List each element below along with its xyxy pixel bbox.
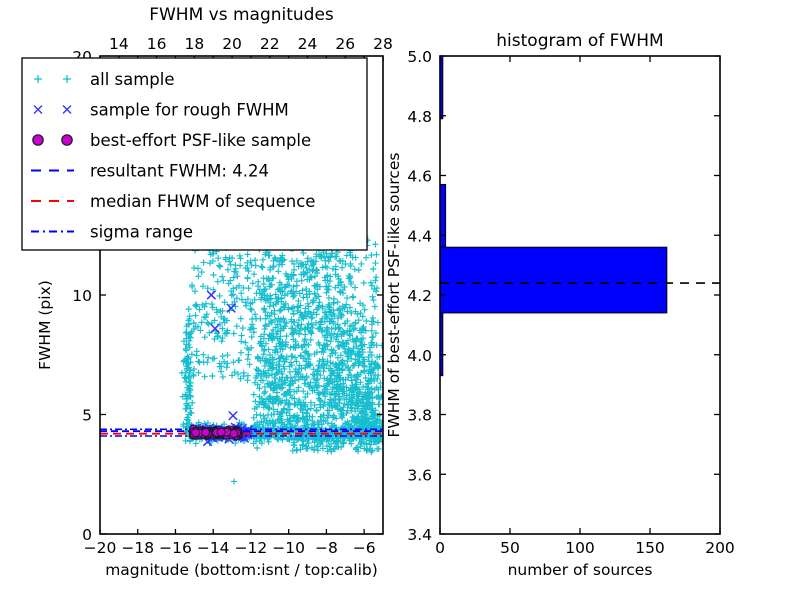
plus-marker (314, 408, 320, 414)
plus-marker (209, 373, 215, 379)
plus-marker (308, 405, 314, 411)
right-ytick-label: 5.0 (407, 48, 432, 66)
histogram-bar (440, 247, 667, 313)
plot-canvas: −20−18−16−14−12−10−8−6141618202224262805… (0, 0, 800, 600)
plus-marker (278, 295, 284, 301)
plus-marker (252, 257, 258, 263)
plus-marker (204, 320, 210, 326)
plus-marker (249, 307, 255, 313)
plus-marker (224, 352, 230, 358)
plus-marker (202, 374, 208, 380)
plus-marker (196, 359, 202, 365)
plus-marker (335, 299, 341, 305)
plus-marker (238, 332, 244, 338)
plus-marker (290, 448, 296, 454)
plus-marker (251, 271, 257, 277)
right-panel: 0501001502003.43.63.84.04.24.44.64.85.0h… (385, 31, 735, 579)
plus-marker (217, 293, 223, 299)
plus-marker (245, 352, 251, 358)
plus-marker (311, 283, 317, 289)
plus-marker (339, 265, 345, 271)
plus-marker (215, 279, 221, 285)
plus-marker (254, 445, 260, 451)
plus-marker (220, 353, 226, 359)
right-xtick-label: 200 (705, 539, 735, 557)
plus-marker (261, 305, 267, 311)
plus-marker (260, 257, 266, 263)
plus-marker (302, 331, 308, 337)
plus-marker (314, 267, 320, 273)
plus-marker (358, 440, 364, 446)
plus-marker (205, 355, 211, 361)
plus-marker (219, 274, 225, 280)
plus-marker (266, 405, 272, 411)
left-ytick-label: 10 (72, 287, 92, 305)
right-ytick-label: 3.8 (407, 407, 432, 425)
left-xtick-top-label: 16 (147, 35, 167, 53)
plus-marker (336, 326, 342, 332)
left-xtick-bottom-label: −16 (159, 539, 192, 557)
plus-marker (375, 320, 381, 326)
left-xtick-bottom-label: −10 (272, 539, 305, 557)
plus-marker (195, 358, 201, 364)
plus-marker (193, 352, 199, 358)
plus-marker (250, 280, 256, 286)
left-xtick-top-label: 20 (222, 35, 242, 53)
right-ytick-label: 3.4 (407, 526, 432, 544)
right-ytick-label: 4.2 (407, 287, 432, 305)
plus-marker (231, 330, 237, 336)
plus-marker (245, 251, 251, 257)
plus-marker (253, 316, 259, 322)
legend-item-label: sample for rough FWHM (90, 101, 289, 120)
left-xtick-bottom-label: −14 (197, 539, 230, 557)
plus-marker (242, 340, 248, 346)
plus-marker (204, 359, 210, 365)
plus-marker (186, 306, 192, 312)
plus-marker (238, 290, 244, 296)
plus-marker (226, 280, 232, 286)
plus-marker (229, 292, 235, 298)
plus-marker (299, 287, 305, 293)
left-ytick-label: 5 (82, 407, 92, 425)
plus-marker (255, 279, 261, 285)
plus-marker (352, 284, 358, 290)
left-xtick-top-label: 26 (335, 35, 355, 53)
histogram-bar (440, 184, 446, 247)
left-xtick-bottom-label: −12 (235, 539, 268, 557)
left-panel-xlabel: magnitude (bottom:isnt / top:calib) (105, 561, 378, 579)
plus-marker (200, 352, 206, 358)
plus-marker (372, 303, 378, 309)
plus-marker (210, 356, 216, 362)
plus-marker (219, 338, 225, 344)
plus-marker (191, 265, 197, 271)
cross-marker (229, 411, 237, 419)
left-xtick-top-label: 28 (373, 35, 393, 53)
plus-marker (231, 274, 237, 280)
plus-marker (300, 250, 306, 256)
plus-marker (356, 267, 362, 273)
plus-marker (238, 338, 244, 344)
left-xtick-bottom-label: −18 (121, 539, 154, 557)
left-xtick-top-label: 18 (184, 35, 204, 53)
right-xtick-label: 50 (500, 539, 520, 557)
plus-marker (200, 259, 206, 265)
plus-marker (283, 333, 289, 339)
plus-marker (245, 268, 251, 274)
plus-marker (220, 374, 226, 380)
circle-marker (62, 135, 72, 145)
psf-marker (230, 430, 238, 438)
plus-marker (251, 392, 257, 398)
plus-marker (370, 315, 376, 321)
plus-marker (251, 415, 257, 421)
plus-marker (231, 478, 237, 484)
plus-marker (265, 412, 271, 418)
plus-marker (206, 321, 212, 327)
plus-marker (350, 294, 356, 300)
plus-marker (187, 313, 193, 319)
plus-marker (372, 260, 378, 266)
plus-marker (293, 358, 299, 364)
psf-marker (192, 429, 200, 437)
plus-marker (294, 283, 300, 289)
plus-marker (192, 312, 198, 318)
plus-marker (215, 255, 221, 261)
plus-marker (183, 438, 189, 444)
right-ytick-label: 4.0 (407, 347, 432, 365)
plus-marker (320, 362, 326, 368)
psf-sample-scatter (189, 425, 242, 439)
plus-marker (257, 412, 263, 418)
plus-marker (253, 290, 259, 296)
plus-marker (344, 252, 350, 258)
right-ytick-label: 4.4 (407, 227, 432, 245)
plus-marker (376, 446, 382, 452)
legend-box (22, 58, 367, 250)
all-sample-scatter (179, 228, 386, 484)
right-xtick-label: 0 (435, 539, 445, 557)
plus-marker (244, 275, 250, 281)
right-panel-xlabel: number of sources (508, 561, 653, 579)
plus-marker (259, 264, 265, 270)
plus-marker (361, 280, 367, 286)
plus-marker (192, 302, 198, 308)
plus-marker (344, 295, 350, 301)
circle-marker (33, 135, 43, 145)
legend-item-label: median FHWM of sequence (90, 192, 315, 211)
plus-marker (370, 334, 376, 340)
plus-marker (376, 401, 382, 407)
plus-marker (199, 269, 205, 275)
plus-marker (249, 321, 255, 327)
left-panel-ylabel: FWHM (pix) (36, 280, 54, 370)
plus-marker (287, 369, 293, 375)
plus-marker (234, 323, 240, 329)
plus-marker (324, 265, 330, 271)
plus-marker (363, 318, 369, 324)
left-xtick-top-label: 22 (260, 35, 280, 53)
plus-marker (209, 301, 215, 307)
plus-marker (224, 364, 230, 370)
legend-item-label: resultant FWHM: 4.24 (90, 162, 269, 181)
plus-marker (253, 263, 259, 269)
plus-marker (328, 338, 334, 344)
plus-marker (333, 253, 339, 259)
plus-marker (192, 288, 198, 294)
plus-marker (195, 273, 201, 279)
legend-item-label: sigma range (90, 223, 193, 242)
plus-marker (309, 314, 315, 320)
plus-marker (336, 258, 342, 264)
left-xtick-top-label: 24 (298, 35, 318, 53)
left-xtick-bottom-label: −8 (315, 539, 338, 557)
plus-marker (203, 301, 209, 307)
plus-marker (238, 316, 244, 322)
left-ytick-label: 0 (82, 526, 92, 544)
plus-marker (370, 266, 376, 272)
plus-marker (258, 263, 264, 269)
plus-marker (220, 278, 226, 284)
left-xtick-top-label: 14 (109, 35, 129, 53)
plus-marker (287, 345, 293, 351)
right-panel-title: histogram of FWHM (496, 31, 663, 51)
plus-marker (216, 262, 222, 268)
plus-marker (290, 311, 296, 317)
psf-marker (202, 428, 210, 436)
plus-marker (227, 278, 233, 284)
plus-marker (358, 261, 364, 267)
plus-marker (373, 274, 379, 280)
plus-marker (275, 268, 281, 274)
plus-marker (326, 258, 332, 264)
right-panel-ylabel: FWHM of best-effort PSF-like sources (385, 152, 403, 437)
plus-marker (372, 241, 378, 247)
plus-marker (240, 325, 246, 331)
right-ytick-label: 4.6 (407, 168, 432, 186)
plus-marker (238, 350, 244, 356)
left-xtick-bottom-label: −6 (353, 539, 376, 557)
legend-item-label: all sample (90, 70, 175, 89)
plus-marker (217, 264, 223, 270)
plus-marker (370, 294, 376, 300)
plus-marker (191, 366, 197, 372)
plus-marker (299, 278, 305, 284)
plus-marker (290, 294, 296, 300)
plus-marker (252, 311, 258, 317)
cross-marker (207, 291, 215, 299)
plus-marker (291, 402, 297, 408)
right-ytick-label: 3.6 (407, 466, 432, 484)
plus-marker (202, 334, 208, 340)
right-xtick-label: 150 (635, 539, 665, 557)
plus-marker (316, 299, 322, 305)
right-xtick-label: 100 (565, 539, 595, 557)
legend-item-label: best-effort PSF-like sample (90, 131, 311, 150)
plus-marker (193, 440, 199, 446)
plus-marker (277, 307, 283, 313)
plus-marker (352, 266, 358, 272)
plus-marker (370, 297, 376, 303)
plus-marker (210, 272, 216, 278)
plus-marker (252, 398, 258, 404)
matplotlib-figure: −20−18−16−14−12−10−8−6141618202224262805… (0, 0, 800, 600)
psf-marker (217, 428, 225, 436)
plus-marker (234, 273, 240, 279)
histogram-bars (440, 56, 667, 376)
legend: all samplesample for rough FWHMbest-effo… (22, 58, 367, 250)
right-ytick-label: 4.8 (407, 108, 432, 126)
plus-marker (270, 264, 276, 270)
plus-marker (247, 306, 253, 312)
plus-marker (329, 250, 335, 256)
left-panel-title: FWHM vs magnitudes (149, 5, 334, 25)
